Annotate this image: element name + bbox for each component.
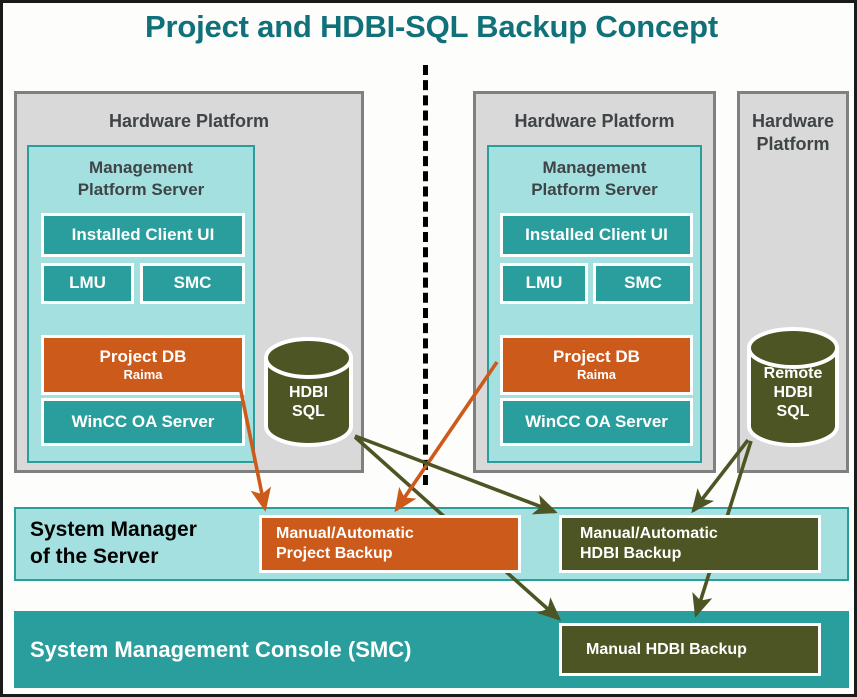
hardware-platform-right: Hardware Platform Management Platform Se…	[473, 91, 716, 473]
system-manager-label-line1: System Manager	[30, 516, 197, 543]
component-label: LMU	[526, 274, 563, 292]
database-hdbi-sql-left[interactable]: HDBI SQL	[262, 336, 355, 448]
component-sublabel: Raima	[123, 368, 162, 382]
hardware-platform-right-title: Hardware Platform	[476, 110, 713, 133]
component-label: WinCC OA Server	[525, 413, 668, 431]
component-installed-client-ui-left[interactable]: Installed Client UI	[41, 213, 245, 257]
management-platform-server-left-title: Management Platform Server	[29, 157, 253, 201]
component-label: Project DB	[100, 348, 187, 366]
mps-title-line2: Platform Server	[29, 179, 253, 201]
component-label: SMC	[174, 274, 212, 292]
hardware-platform-remote: Hardware Platform Remote HDBI SQL	[737, 91, 849, 473]
component-wincc-oa-server-left[interactable]: WinCC OA Server	[41, 398, 245, 446]
component-project-db-right[interactable]: Project DB Raima	[500, 335, 693, 395]
component-label: WinCC OA Server	[72, 413, 215, 431]
backup-box-line2: HDBI Backup	[580, 544, 818, 564]
component-lmu-right[interactable]: LMU	[500, 263, 588, 304]
component-label: Installed Client UI	[72, 226, 215, 244]
hardware-platform-left-title: Hardware Platform	[17, 110, 361, 133]
backup-box-line1: Manual HDBI Backup	[586, 640, 747, 660]
component-wincc-oa-server-right[interactable]: WinCC OA Server	[500, 398, 693, 446]
database-remote-hdbi-sql[interactable]: Remote HDBI SQL	[745, 326, 841, 448]
component-label: Project DB	[553, 348, 640, 366]
mps-title-line2: Platform Server	[489, 179, 700, 201]
component-sublabel: Raima	[577, 368, 616, 382]
dashed-vertical-divider	[423, 65, 428, 485]
management-platform-server-right-title: Management Platform Server	[489, 157, 700, 201]
component-label: SMC	[624, 274, 662, 292]
component-label: LMU	[69, 274, 106, 292]
component-label: Installed Client UI	[525, 226, 668, 244]
smc-label: System Management Console (SMC)	[30, 637, 411, 663]
diagram-canvas: Project and HDBI-SQL Backup Concept Hard…	[0, 0, 857, 697]
hw-title-line1: Hardware	[740, 110, 846, 133]
backup-box-line2: Project Backup	[276, 544, 518, 564]
cylinder-shape	[745, 326, 841, 448]
component-lmu-left[interactable]: LMU	[41, 263, 134, 304]
backup-box-manual-automatic-project-backup[interactable]: Manual/Automatic Project Backup	[259, 515, 521, 573]
hardware-platform-remote-title: Hardware Platform	[740, 110, 846, 156]
cylinder-shape	[262, 336, 355, 448]
page-title: Project and HDBI-SQL Backup Concept	[3, 9, 857, 45]
component-installed-client-ui-right[interactable]: Installed Client UI	[500, 213, 693, 257]
backup-box-manual-automatic-hdbi-backup[interactable]: Manual/Automatic HDBI Backup	[559, 515, 821, 573]
backup-box-line1: Manual/Automatic	[580, 524, 818, 544]
component-smc-right[interactable]: SMC	[593, 263, 693, 304]
backup-box-manual-hdbi-backup[interactable]: Manual HDBI Backup	[559, 623, 821, 676]
system-manager-label-line2: of the Server	[30, 543, 197, 570]
management-platform-server-left: Management Platform Server Installed Cli…	[27, 145, 255, 463]
hw-title-line2: Platform	[740, 133, 846, 156]
hardware-platform-left: Hardware Platform Management Platform Se…	[14, 91, 364, 473]
system-manager-label: System Manager of the Server	[30, 516, 197, 570]
mps-title-line1: Management	[489, 157, 700, 179]
component-smc-left[interactable]: SMC	[140, 263, 245, 304]
component-project-db-left[interactable]: Project DB Raima	[41, 335, 245, 395]
backup-box-line1: Manual/Automatic	[276, 524, 518, 544]
mps-title-line1: Management	[29, 157, 253, 179]
management-platform-server-right: Management Platform Server Installed Cli…	[487, 145, 702, 463]
